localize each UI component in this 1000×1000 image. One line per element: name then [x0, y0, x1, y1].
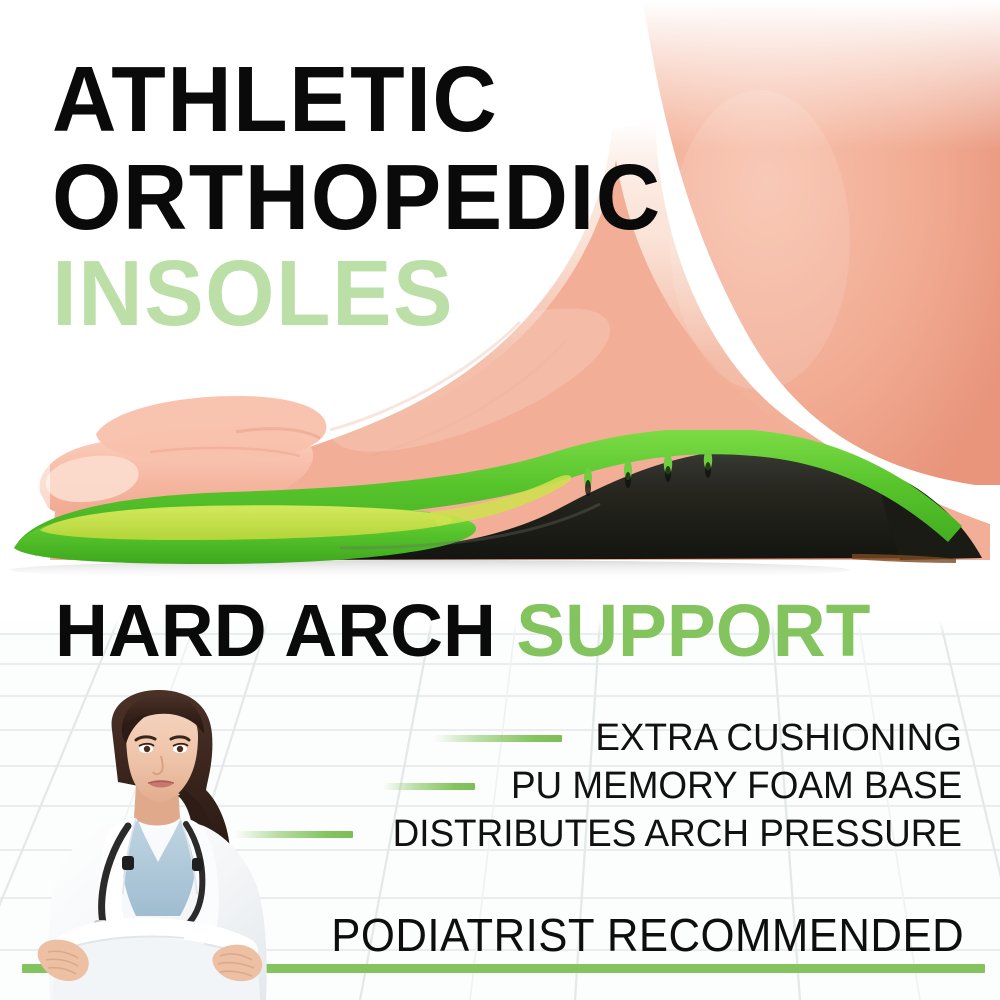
headline-line-3: INSOLES [52, 248, 916, 338]
feature-label: PU MEMORY FOAM BASE [511, 765, 962, 808]
headline-line-1: ATHLETIC [52, 54, 916, 144]
subheadline-dark-part: HARD ARCH [55, 589, 496, 672]
green-dash-icon [383, 783, 475, 790]
feature-item-pu-memory-foam-base: PU MEMORY FOAM BASE [383, 762, 962, 810]
doctor-photo [8, 686, 308, 1000]
feature-item-extra-cushioning: EXTRA CUSHIONING [434, 714, 962, 762]
subheadline-green-part: SUPPORT [516, 589, 870, 672]
feature-label: EXTRA CUSHIONING [595, 717, 962, 760]
feature-item-distributes-arch-pressure: DISTRIBUTES ARCH PRESSURE [235, 810, 962, 858]
headline-line-2: ORTHOPEDIC [52, 152, 916, 242]
feature-label: DISTRIBUTES ARCH PRESSURE [393, 813, 962, 856]
podiatrist-claim: PODIATRIST RECOMMENDED [331, 908, 964, 962]
green-dash-icon [434, 735, 562, 742]
subheadline: HARD ARCH SUPPORT [55, 594, 870, 668]
headline-block: ATHLETIC ORTHOPEDIC INSOLES [52, 54, 952, 339]
insole-photo [0, 430, 1000, 600]
feature-list: EXTRA CUSHIONING PU MEMORY FOAM BASE DIS… [235, 714, 962, 858]
ad-canvas: ATHLETIC ORTHOPEDIC INSOLES HARD ARCH SU… [0, 0, 1000, 1000]
